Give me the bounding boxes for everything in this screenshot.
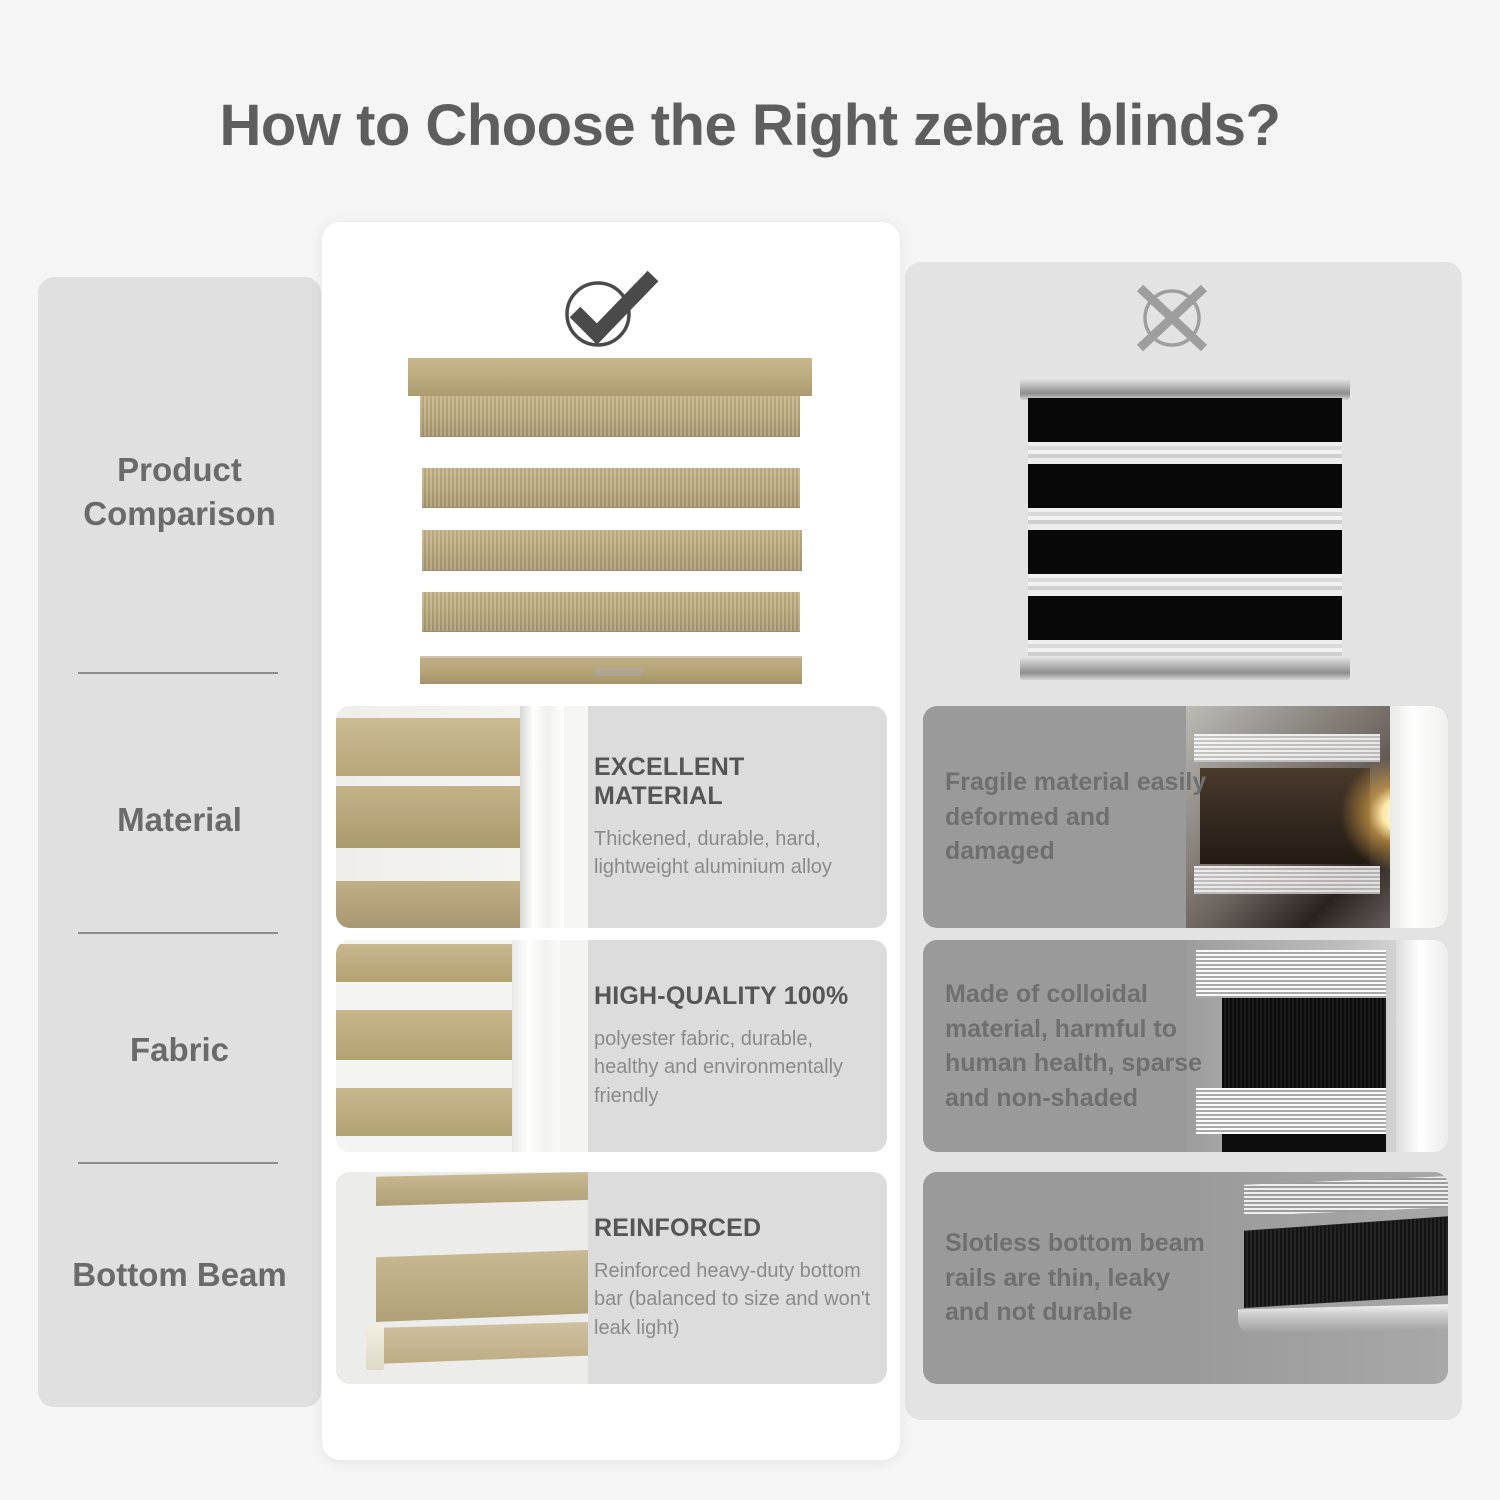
feature-body: Reinforced heavy-duty bottom bar (balanc…: [594, 1257, 871, 1342]
sidebar-divider: [78, 1162, 278, 1164]
bad-hero-blind-image: [1020, 378, 1350, 678]
good-material-text: EXCELLENT MATERIAL Thickened, durable, h…: [594, 706, 887, 928]
blind-slat: [376, 1250, 588, 1322]
sidebar-item-fabric: Fabric: [38, 1005, 321, 1095]
good-bottom-beam-text: REINFORCED Reinforced heavy-duty bottom …: [594, 1172, 887, 1384]
blind-band: [336, 718, 522, 776]
blind-slat: [422, 592, 800, 632]
blind-band: [336, 881, 522, 928]
fabric-band: [336, 944, 512, 982]
blind-bottom-rail: [1020, 656, 1350, 680]
cross-circle-icon: [1128, 282, 1216, 354]
blind-band: [336, 786, 522, 848]
infographic-page: How to Choose the Right zebra blinds? Pr…: [0, 0, 1500, 1500]
fabric-band: [336, 1010, 512, 1060]
sidebar-divider: [78, 932, 278, 934]
bad-feature-bottom-beam: Slotless bottom beam rails are thin, lea…: [923, 1172, 1448, 1384]
blind-slat: [422, 530, 802, 571]
blind-headrail: [408, 358, 812, 396]
reinforced-bottom-bar: [376, 1322, 588, 1364]
window-frame: [512, 940, 560, 1152]
good-fabric-text: HIGH-QUALITY 100% polyester fabric, dura…: [594, 940, 887, 1152]
sidebar-label: Bottom Beam: [72, 1253, 287, 1297]
bad-bottom-beam-image: [1186, 1172, 1448, 1384]
mesh-band: [1196, 950, 1386, 998]
window-frame: [1390, 706, 1448, 928]
feature-body: polyester fabric, durable, healthy and e…: [594, 1025, 871, 1110]
feature-body: Thickened, durable, hard, lightweight al…: [594, 825, 871, 882]
blind-slat: [376, 1172, 588, 1206]
sidebar-divider: [78, 672, 278, 674]
window-frame: [1396, 940, 1448, 1152]
bad-feature-material: Fragile material easily deformed and dam…: [923, 706, 1448, 928]
window-frame: [520, 706, 564, 928]
mesh-band: [1196, 1088, 1386, 1134]
bad-material-text: Fragile material easily deformed and dam…: [945, 706, 1207, 928]
sidebar-label: Material: [117, 798, 242, 842]
dark-band: [1244, 1216, 1448, 1308]
feature-body: Made of colloidal material, harmful to h…: [945, 977, 1207, 1115]
good-hero-blind-image: [408, 358, 812, 698]
bad-fabric-image: [1186, 940, 1448, 1152]
dark-band: [1222, 1134, 1386, 1152]
sidebar-item-bottom-beam: Bottom Beam: [38, 1215, 321, 1335]
blind-headrail: [1020, 378, 1350, 400]
sidebar-label: Fabric: [130, 1028, 229, 1072]
dark-band: [1222, 998, 1386, 1088]
good-feature-material: EXCELLENT MATERIAL Thickened, durable, h…: [336, 706, 887, 928]
bad-material-image: [1186, 706, 1448, 928]
good-fabric-image: [336, 940, 588, 1152]
good-feature-fabric: HIGH-QUALITY 100% polyester fabric, dura…: [336, 940, 887, 1152]
bad-fabric-text: Made of colloidal material, harmful to h…: [945, 940, 1207, 1152]
fabric-band: [336, 1088, 512, 1136]
feature-heading: REINFORCED: [594, 1214, 871, 1243]
sidebar-item-material: Material: [38, 775, 321, 865]
feature-body: Slotless bottom beam rails are thin, lea…: [945, 1226, 1207, 1330]
blind-pull-tab: [594, 668, 642, 676]
good-bottom-beam-image: [336, 1172, 588, 1384]
sidebar-item-product-comparison: Product Comparison: [38, 432, 321, 552]
sidebar-label: Product Comparison: [38, 448, 321, 536]
feature-body: Fragile material easily deformed and dam…: [945, 765, 1207, 869]
bad-bottom-beam-text: Slotless bottom beam rails are thin, lea…: [945, 1172, 1207, 1384]
mesh-band: [1244, 1176, 1448, 1216]
good-feature-bottom-beam: REINFORCED Reinforced heavy-duty bottom …: [336, 1172, 887, 1384]
blind-fabric-body: [1028, 398, 1342, 660]
bad-feature-fabric: Made of colloidal material, harmful to h…: [923, 940, 1448, 1152]
blind-slat: [422, 468, 800, 508]
blind-slat: [420, 396, 800, 437]
feature-heading: HIGH-QUALITY 100%: [594, 982, 871, 1011]
feature-heading: EXCELLENT MATERIAL: [594, 753, 871, 811]
thin-bottom-rail: [1238, 1304, 1448, 1334]
good-material-image: [336, 706, 588, 928]
bottom-bar-end-cap: [366, 1324, 384, 1370]
page-title: How to Choose the Right zebra blinds?: [0, 92, 1500, 159]
check-circle-icon: [553, 268, 663, 352]
